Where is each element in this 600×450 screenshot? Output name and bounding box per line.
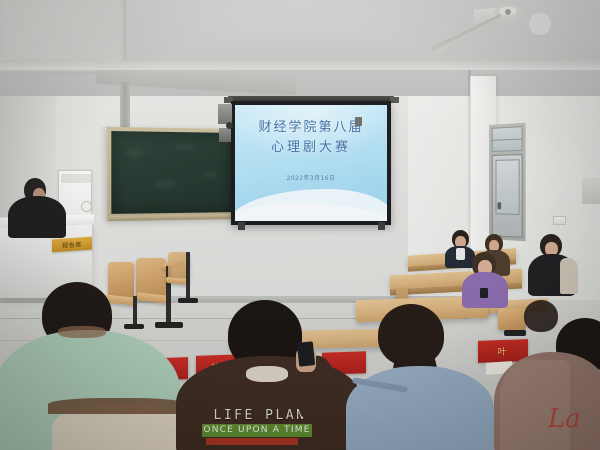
slide-date: 2022年3月16日 bbox=[235, 173, 387, 182]
student-collar-1 bbox=[456, 248, 465, 260]
seat-right-front-foot bbox=[504, 330, 526, 336]
jacket-accent-bar bbox=[206, 438, 298, 445]
door[interactable] bbox=[489, 123, 526, 241]
lectern-sign: 报告席 bbox=[52, 237, 92, 253]
wall-speaker-icon bbox=[355, 117, 362, 126]
blackboard-surface bbox=[111, 131, 234, 214]
wall-notice bbox=[582, 178, 600, 204]
desk-banner-5-text: 叶 bbox=[478, 344, 528, 359]
foreground-collar-mint bbox=[58, 326, 106, 338]
wall-projector-box bbox=[218, 104, 232, 124]
foreground-sweater-trim bbox=[48, 398, 188, 414]
wall-panel-strip bbox=[61, 174, 91, 183]
light-switch[interactable] bbox=[553, 216, 566, 225]
phone-icon-1 bbox=[480, 288, 488, 298]
classroom-photo: 财经学院第八届 心理剧大赛 2022年3月16日 报告席 bbox=[0, 0, 600, 450]
slide: 财经学院第八届 心理剧大赛 2022年3月16日 bbox=[235, 105, 387, 221]
wall-control-box bbox=[219, 128, 231, 142]
wall-knob-icon bbox=[226, 122, 233, 129]
slide-title-line2: 心理剧大赛 bbox=[235, 139, 387, 157]
corner-jacket-text: La bbox=[548, 404, 600, 438]
jacket-text-line2: ONCE UPON A TIME bbox=[202, 424, 312, 437]
foreground-collar-center bbox=[246, 366, 288, 382]
door-transom-window bbox=[492, 126, 523, 152]
slide-wave-front bbox=[235, 189, 387, 221]
student-sleeve-4 bbox=[560, 258, 578, 294]
phone-icon-3[interactable] bbox=[297, 341, 315, 367]
door-leaf[interactable] bbox=[492, 154, 523, 238]
foreground-torso-denim bbox=[346, 366, 494, 450]
ceiling-fan-icon bbox=[420, 0, 600, 70]
person-head-right-mid bbox=[524, 300, 558, 332]
screen-bracket-right bbox=[390, 97, 399, 103]
lectern-sign-label: 报告席 bbox=[52, 239, 92, 251]
door-handle[interactable] bbox=[497, 202, 501, 209]
screen-mount-right bbox=[378, 222, 385, 230]
projection-screen: 财经学院第八届 心理剧大赛 2022年3月16日 bbox=[231, 101, 391, 225]
slide-title-line1: 财经学院第八届 bbox=[235, 119, 387, 137]
speaker-torso bbox=[8, 196, 66, 238]
seat-right-front bbox=[498, 308, 526, 330]
screen-mount-left bbox=[238, 222, 245, 230]
wall-panel-dial-icon bbox=[81, 201, 92, 212]
